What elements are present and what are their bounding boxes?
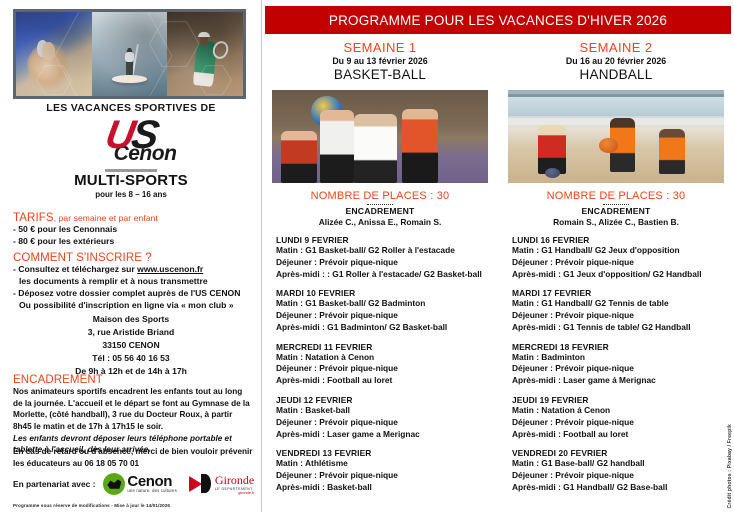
day-lunch: Déjeuner : Prévoir pique-nique [276, 257, 490, 269]
day-lunch: Déjeuner : Prévoir pique-nique [276, 310, 490, 322]
day-name: MERCREDI 11 FEVRIER [276, 342, 490, 352]
uscenon-website-link[interactable]: www.uscenon.fr [137, 264, 203, 274]
divider-dots [603, 204, 629, 205]
hero-pane-tennis [167, 12, 243, 96]
sports-collage-photo [13, 9, 246, 99]
week-2-dates: Du 16 au 20 février 2026 [498, 56, 734, 66]
day-afternoon: Après-midi : : G1 Roller à l'estacade/ G… [276, 269, 490, 281]
day-entry: LUNDI 9 FEVRIER Matin : G1 Basket-ball/ … [276, 235, 490, 281]
weeks-container: SEMAINE 1 Du 9 au 13 février 2026 BASKET… [262, 40, 734, 501]
photo-credit: Crédit photos : Pixabay / Freepik [727, 424, 733, 508]
day-afternoon: Après-midi : G1 Tennis de table/ G2 Hand… [512, 322, 726, 334]
kids-basketball-gym-photo [508, 90, 724, 183]
day-entry: LUNDI 16 FEVRIER Matin : G1 Handball/ G2… [512, 235, 726, 281]
day-name: MARDI 17 FEVRIER [512, 288, 726, 298]
day-afternoon: Après-midi : Football au loret [512, 429, 726, 441]
inscription-line-4: Ou possibilité d'inscription en ligne vi… [13, 300, 253, 312]
encadrement-paragraph: Nos animateurs sportifs encadrent les en… [13, 386, 253, 433]
day-name: MERCREDI 18 FEVRIER [512, 342, 726, 352]
tarif-line: - 80 € pour les extérieurs [13, 236, 253, 248]
hero-pane-paddleboard [92, 12, 168, 96]
inscription-heading: COMMENT S'INSCRIRE ? [13, 252, 253, 264]
hero-pane-swimming [16, 12, 92, 96]
inscription-line-3: - Déposez votre dossier complet auprès d… [13, 288, 253, 300]
program-banner-title: PROGRAMME POUR LES VACANCES D'HIVER 2026 [265, 6, 731, 34]
week-1-days: LUNDI 9 FEVRIER Matin : G1 Basket-ball/ … [262, 235, 498, 494]
day-morning: Matin : G1 Handball/ G2 Tennis de table [512, 298, 726, 310]
tarifs-heading: TARIFS, par semaine et par enfant [13, 212, 253, 224]
day-name: VENDREDI 20 FEVRIER [512, 448, 726, 458]
day-name: VENDREDI 13 FEVRIER [276, 448, 490, 458]
footnote-disclaimer: Programme sous réserve de modifications … [13, 503, 170, 508]
week-2-sport: HANDBALL [498, 67, 734, 82]
day-lunch: Déjeuner : Prévoir pique-nique [512, 310, 726, 322]
day-name: JEUDI 12 FEVRIER [276, 395, 490, 405]
day-entry: MARDI 17 FEVRIER Matin : G1 Handball/ G2… [512, 288, 726, 334]
day-lunch: Déjeuner : Prévoir pique-nique [276, 470, 490, 482]
day-afternoon: Après-midi : Football au loret [276, 375, 490, 387]
week-1-places: NOMBRE DE PLACES : 30 [262, 190, 498, 202]
partners-label: En partenariat avec : [13, 479, 95, 489]
day-morning: Matin : G1 Basket-ball/ G2 Badminton [276, 298, 490, 310]
day-entry: JEUDI 19 FEVRIER Matin : Natation á Ceno… [512, 395, 726, 441]
left-info-column: LES VACANCES SPORTIVES DE US Cenon MULTI… [0, 0, 262, 512]
week-1-encadrement-title: ENCADREMENT [262, 206, 498, 216]
day-afternoon: Après-midi : G1 Badminton/ G2 Basket-bal… [276, 322, 490, 334]
day-lunch: Déjeuner : Prévoir pique-nique [512, 363, 726, 375]
day-afternoon: Après-midi : G1 Handball/ G2 Base-ball [512, 482, 726, 494]
day-entry: VENDREDI 13 FEVRIER Matin : Athlétisme D… [276, 448, 490, 494]
week-1-sport: BASKET-BALL [262, 67, 498, 82]
tarifs-section: TARIFS, par semaine et par enfant - 50 €… [13, 212, 253, 248]
week-2-places: NOMBRE DE PLACES : 30 [498, 190, 734, 202]
week-2-title: SEMAINE 2 [498, 40, 734, 55]
day-afternoon: Après-midi : Laser game á Merignac [512, 375, 726, 387]
week-2-encadrement-names: Romain S., Alizée C., Bastien B. [498, 217, 734, 227]
inscription-line-1: - Consultez et téléchargez sur www.uscen… [13, 264, 253, 276]
divider-dots [367, 204, 393, 205]
day-afternoon: Après-midi : G1 Jeux d'opposition/ G2 Ha… [512, 269, 726, 281]
tarif-line: - 50 € pour les Cenonnais [13, 224, 253, 236]
day-entry: MERCREDI 11 FEVRIER Matin : Natation à C… [276, 342, 490, 388]
logo-letter-s: S [129, 116, 159, 154]
day-morning: Matin : G1 Basket-ball/ G2 Roller à l'es… [276, 245, 490, 257]
day-name: LUNDI 16 FEVRIER [512, 235, 726, 245]
day-morning: Matin : G1 Base-ball/ G2 handball [512, 458, 726, 470]
absence-note: En cas de retard ou d'absence, merci de … [13, 446, 253, 469]
address-block: Maison des Sports 3, rue Aristide Briand… [0, 313, 262, 377]
day-lunch: Déjeuner : Prévoir pique-nique [512, 470, 726, 482]
us-cenon-logo: US Cenon [0, 116, 262, 172]
inscription-section: COMMENT S'INSCRIRE ? - Consultez et télé… [13, 252, 253, 311]
encadrement-section: ENCADREMENT Nos animateurs sportifs enca… [13, 374, 253, 456]
encadrement-heading: ENCADREMENT [13, 374, 253, 386]
week-1-title: SEMAINE 1 [262, 40, 498, 55]
day-entry: JEUDI 12 FEVRIER Matin : Basket-ball Déj… [276, 395, 490, 441]
day-morning: Matin : Natation à Cenon [276, 352, 490, 364]
week-2-days: LUNDI 16 FEVRIER Matin : G1 Handball/ G2… [498, 235, 734, 494]
day-lunch: Déjeuner : Prévoir pique-nique [276, 417, 490, 429]
day-afternoon: Après-midi : Basket-ball [276, 482, 490, 494]
kids-handball-photo [272, 90, 488, 183]
day-name: MARDI 10 FEVRIER [276, 288, 490, 298]
address-line: 33150 CENON [0, 339, 262, 352]
flyer-page: LES VACANCES SPORTIVES DE US Cenon MULTI… [0, 0, 734, 512]
inscription-line-2: les documents à remplir et à nous transm… [13, 276, 253, 288]
week-1-dates: Du 9 au 13 février 2026 [262, 56, 498, 66]
day-morning: Matin : Badminton [512, 352, 726, 364]
day-entry: MARDI 10 FEVRIER Matin : G1 Basket-ball/… [276, 288, 490, 334]
day-morning: Matin : Basket-ball [276, 405, 490, 417]
phone-line: Tél : 05 56 40 16 53 [0, 352, 262, 365]
address-line: 3, rue Aristide Briand [0, 326, 262, 339]
gironde-logo-word: Gironde [215, 473, 254, 487]
week-2-block: SEMAINE 2 Du 16 au 20 février 2026 HANDB… [498, 40, 734, 501]
day-lunch: Déjeuner : Prévoir pique-nique [512, 257, 726, 269]
day-lunch: Déjeuner : Prévoir pique-nique [276, 363, 490, 375]
week-1-encadrement-names: Alizée C., Anissa E., Romain S. [262, 217, 498, 227]
gironde-logo: Gironde LE DEPARTEMENT gironde.fr [189, 472, 254, 495]
gironde-arrow-icon [189, 476, 202, 492]
day-morning: Matin : Natation á Cenon [512, 405, 726, 417]
program-column: PROGRAMME POUR LES VACANCES D'HIVER 2026… [262, 0, 734, 512]
multi-sports-title: MULTI-SPORTS [0, 172, 262, 189]
cenon-leaf-icon [103, 473, 125, 495]
partners-row: En partenariat avec : Cenon une nature, … [13, 472, 254, 495]
day-afternoon: Après-midi : Laser game a Merignac [276, 429, 490, 441]
address-line: Maison des Sports [0, 313, 262, 326]
day-lunch: Déjeuner : Prévoir pique-nique [512, 417, 726, 429]
day-name: JEUDI 19 FEVRIER [512, 395, 726, 405]
cenon-logo: Cenon une nature, des cultures [103, 473, 177, 495]
day-morning: Matin : Athlétisme [276, 458, 490, 470]
week-2-encadrement-title: ENCADREMENT [498, 206, 734, 216]
day-name: LUNDI 9 FEVRIER [276, 235, 490, 245]
day-entry: VENDREDI 20 FEVRIER Matin : G1 Base-ball… [512, 448, 726, 494]
cenon-logo-tagline: une nature, des cultures [127, 489, 177, 493]
gironde-logo-site: gironde.fr [215, 492, 254, 496]
age-range-label: pour les 8 – 16 ans [0, 190, 262, 199]
gironde-swoosh-icon [201, 474, 211, 493]
week-1-block: SEMAINE 1 Du 9 au 13 février 2026 BASKET… [262, 40, 498, 501]
absence-note-section: En cas de retard ou d'absence, merci de … [13, 446, 253, 469]
day-morning: Matin : G1 Handball/ G2 Jeux d'oppositio… [512, 245, 726, 257]
day-entry: MERCREDI 18 FEVRIER Matin : Badminton Dé… [512, 342, 726, 388]
